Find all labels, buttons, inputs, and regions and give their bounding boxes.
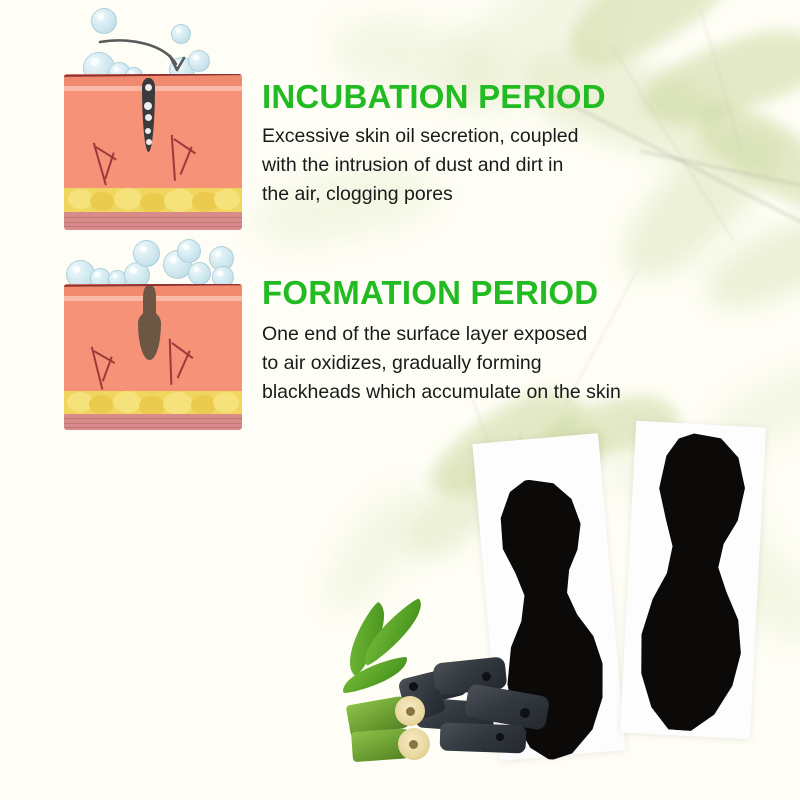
sebum-particle: [145, 128, 151, 134]
skin-cross-section: [64, 74, 242, 230]
body-line: with the intrusion of dust and dirt in: [262, 151, 662, 180]
fat-globule: [89, 395, 113, 414]
muscle-layer: [64, 212, 242, 230]
bubble: [188, 262, 211, 285]
body-line: blackheads which accumulate on the skin: [262, 378, 702, 407]
fat-globule: [164, 189, 194, 212]
charcoal-pore: [496, 733, 504, 741]
fat-globule: [214, 189, 240, 210]
body-line: One end of the surface layer exposed: [262, 320, 702, 349]
fat-globule: [139, 396, 165, 416]
bamboo-hollow-core: [409, 740, 418, 749]
fat-globule: [213, 392, 239, 413]
charcoal-stick: [440, 723, 527, 754]
branch-line: [699, 9, 742, 154]
fat-globule: [140, 193, 166, 213]
charcoal-pore: [482, 672, 491, 681]
fat-globule: [163, 392, 193, 415]
leaf-shape: [694, 207, 800, 319]
sebum-particle: [144, 102, 152, 110]
body-formation-period: One end of the surface layer exposed to …: [262, 320, 702, 407]
bubble: [91, 8, 117, 34]
heading-incubation-period: INCUBATION PERIOD: [262, 78, 606, 116]
charcoal-pore: [520, 708, 530, 718]
leaf-shape: [634, 18, 800, 134]
fat-globule: [114, 188, 142, 210]
fat-globule: [113, 391, 141, 413]
muscle-striation: [64, 423, 242, 424]
skin-cross-section: [64, 284, 242, 430]
infographic-page: INCUBATION PERIOD Excessive skin oil sec…: [0, 0, 800, 800]
muscle-striation: [64, 226, 242, 227]
leaf-shape: [686, 81, 800, 224]
bamboo-hollow-core: [406, 707, 415, 716]
heading-formation-period: FORMATION PERIOD: [262, 274, 598, 312]
sebum-particle: [145, 84, 152, 91]
body-line: Excessive skin oil secretion, coupled: [262, 122, 662, 151]
bubble: [133, 240, 160, 267]
bubble: [177, 239, 201, 263]
muscle-striation: [64, 222, 242, 223]
muscle-striation: [64, 427, 242, 428]
diagram-formation-period: [64, 236, 242, 430]
leaf-shape: [552, 0, 739, 81]
diagram-incubation-period: [64, 2, 242, 230]
muscle-striation: [64, 418, 242, 419]
body-line: to air oxidizes, gradually forming: [262, 349, 702, 378]
fat-globule: [90, 192, 114, 211]
sebum-particle: [145, 114, 152, 121]
leaf-shape: [305, 473, 446, 625]
muscle-striation: [64, 217, 242, 218]
branch-line: [640, 150, 800, 194]
sebum-particle: [146, 139, 152, 145]
charcoal-pore: [409, 682, 418, 691]
body-incubation-period: Excessive skin oil secretion, coupled wi…: [262, 122, 662, 209]
body-line: the air, clogging pores: [262, 180, 662, 209]
